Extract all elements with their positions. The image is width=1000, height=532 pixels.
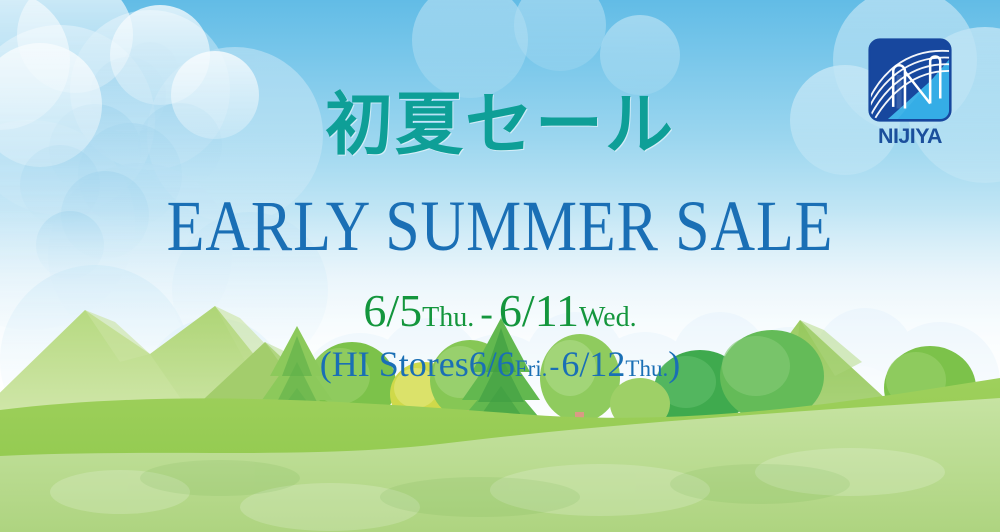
nijiya-logo-icon: [868, 38, 952, 122]
early-summer-sale-banner: 初夏セール EARLY SUMMER SALE 6/5Thu.-6/11Wed.…: [0, 0, 1000, 532]
landscape-scene: [0, 292, 1000, 532]
nijiya-wordmark: NIJIYA: [865, 125, 955, 149]
nijiya-logo[interactable]: NIJIYA: [866, 38, 954, 149]
cloud-cluster-center: [412, 0, 680, 98]
